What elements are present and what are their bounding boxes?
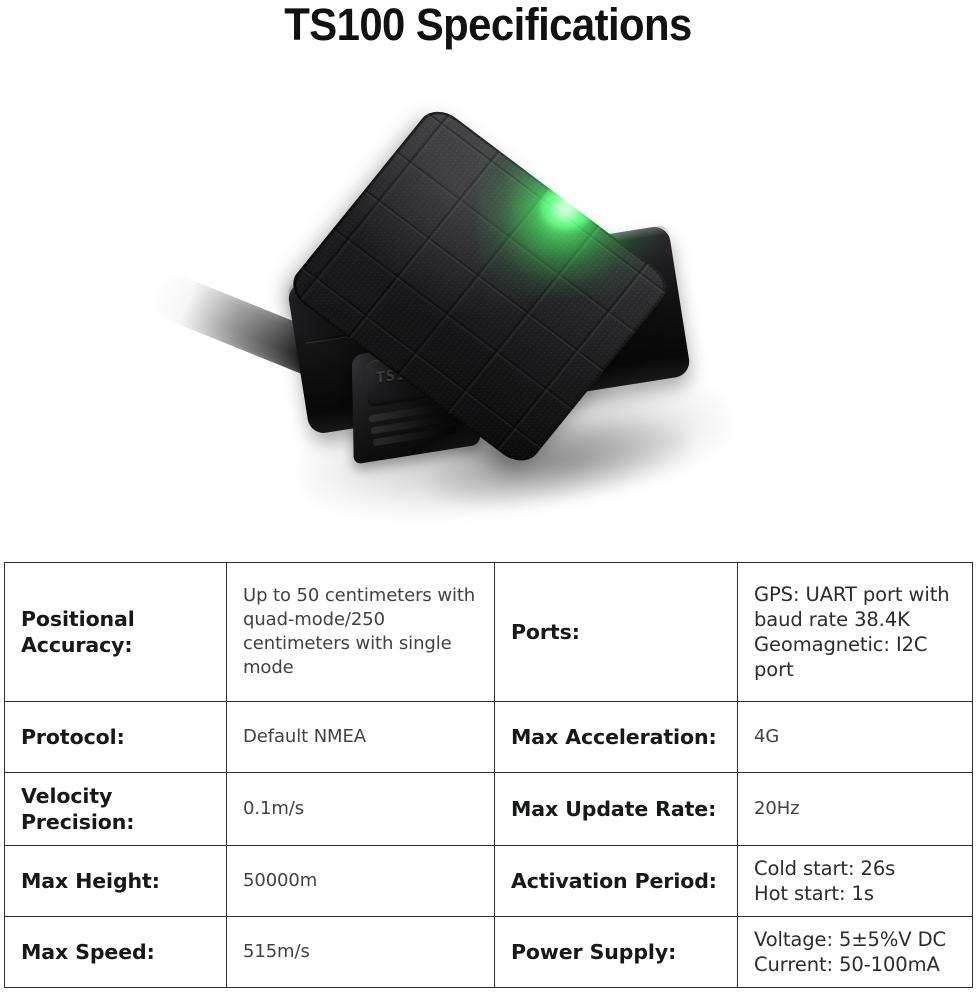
spec-value: 20Hz <box>754 797 958 821</box>
specifications-table-container: Positional Accuracy: Up to 50 centimeter… <box>4 562 972 988</box>
spec-value: GPS: UART port with baud rate 38.4K Geom… <box>754 582 958 682</box>
spec-value-line: Cold start: 26s <box>754 856 958 881</box>
spec-value-line: Current: 50-100mA <box>754 952 958 977</box>
spec-label-cell: Max Height: <box>5 846 227 917</box>
spec-value-cell: 515m/s <box>227 917 495 988</box>
table-row: Max Height: 50000m Activation Period: Co… <box>5 846 973 917</box>
table-row: Positional Accuracy: Up to 50 centimeter… <box>5 563 973 702</box>
spec-label: Max Acceleration: <box>511 724 723 750</box>
spec-value: Default NMEA <box>243 725 480 749</box>
spec-label-cell: Max Acceleration: <box>495 702 738 773</box>
spec-label: Max Height: <box>21 868 212 894</box>
spec-value: 0.1m/s <box>243 797 480 821</box>
spec-label: Velocity Precision: <box>21 783 212 835</box>
product-photo-stage: TS100 <box>0 58 976 548</box>
spec-value-cell: Voltage: 5±5%V DC Current: 50-100mA <box>738 917 973 988</box>
spec-value: 515m/s <box>243 940 480 964</box>
spec-value-cell: 20Hz <box>738 773 973 846</box>
spec-label-cell: Max Update Rate: <box>495 773 738 846</box>
spec-value-cell: 4G <box>738 702 973 773</box>
specifications-table: Positional Accuracy: Up to 50 centimeter… <box>4 562 973 988</box>
table-row: Max Speed: 515m/s Power Supply: Voltage:… <box>5 917 973 988</box>
spec-value-cell: Default NMEA <box>227 702 495 773</box>
spec-value: 50000m <box>243 869 480 893</box>
spec-label-cell: Activation Period: <box>495 846 738 917</box>
spec-label: Max Update Rate: <box>511 796 723 822</box>
spec-value-cell: Cold start: 26s Hot start: 1s <box>738 846 973 917</box>
spec-label-cell: Ports: <box>495 563 738 702</box>
page-title: TS100 Specifications <box>34 0 942 52</box>
spec-value-cell: 0.1m/s <box>227 773 495 846</box>
spec-label: Ports: <box>511 619 723 645</box>
product-hero-image: TS100 <box>0 58 976 548</box>
spec-label-cell: Positional Accuracy: <box>5 563 227 702</box>
table-row: Velocity Precision: 0.1m/s Max Update Ra… <box>5 773 973 846</box>
spec-value-line: Hot start: 1s <box>754 881 958 906</box>
spec-value-line: GPS: UART port with baud rate 38.4K <box>754 582 958 632</box>
spec-value: Voltage: 5±5%V DC Current: 50-100mA <box>754 927 958 977</box>
spec-value-line: Voltage: 5±5%V DC <box>754 927 958 952</box>
spec-value-line: Geomagnetic: I2C port <box>754 632 958 682</box>
spec-label-cell: Velocity Precision: <box>5 773 227 846</box>
spec-value-cell: Up to 50 centimeters with quad-mode/250 … <box>227 563 495 702</box>
spec-label: Activation Period: <box>511 868 723 894</box>
spec-label-cell: Max Speed: <box>5 917 227 988</box>
spec-label-cell: Power Supply: <box>495 917 738 988</box>
spec-label: Power Supply: <box>511 939 723 965</box>
spec-label: Max Speed: <box>21 939 212 965</box>
spec-value: 4G <box>754 725 958 749</box>
spec-value: Up to 50 centimeters with quad-mode/250 … <box>243 584 480 680</box>
spec-label: Positional Accuracy: <box>21 606 212 658</box>
spec-label-cell: Protocol: <box>5 702 227 773</box>
spec-value-cell: GPS: UART port with baud rate 38.4K Geom… <box>738 563 973 702</box>
spec-value: Cold start: 26s Hot start: 1s <box>754 856 958 906</box>
table-row: Protocol: Default NMEA Max Acceleration:… <box>5 702 973 773</box>
spec-label: Protocol: <box>21 724 212 750</box>
spec-value-cell: 50000m <box>227 846 495 917</box>
